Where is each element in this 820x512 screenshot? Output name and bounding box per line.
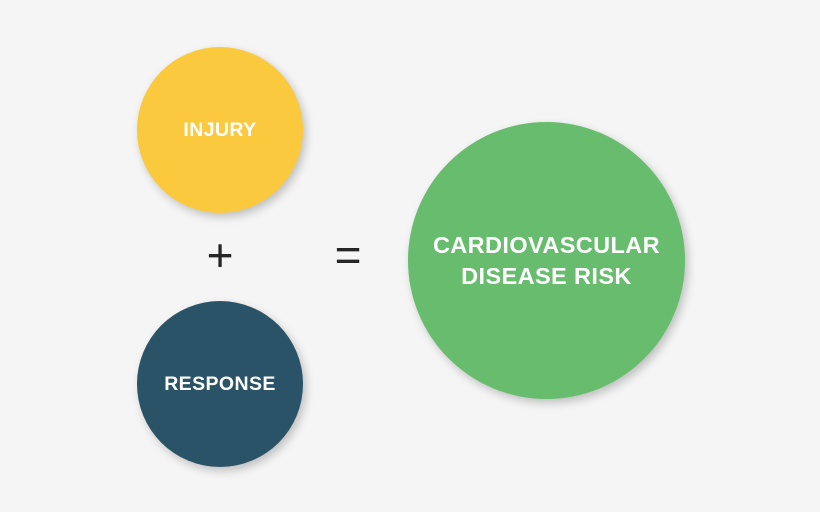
cardiovascular-disease-risk-circle: CARDIOVASCULAR DISEASE RISK bbox=[408, 122, 685, 399]
injury-circle: INJURY bbox=[137, 47, 303, 213]
response-circle: RESPONSE bbox=[137, 301, 303, 467]
diagram-canvas: INJURY + RESPONSE = CARDIOVASCULAR DISEA… bbox=[0, 0, 820, 512]
response-label: RESPONSE bbox=[154, 373, 286, 396]
injury-label: INJURY bbox=[173, 119, 266, 142]
equals-operator-icon: = bbox=[326, 232, 370, 288]
outcome-label-line2: DISEASE RISK bbox=[461, 263, 632, 289]
outcome-label-block: CARDIOVASCULAR DISEASE RISK bbox=[423, 230, 670, 290]
outcome-label-line1: CARDIOVASCULAR bbox=[433, 232, 660, 258]
plus-operator-icon: + bbox=[198, 232, 242, 288]
